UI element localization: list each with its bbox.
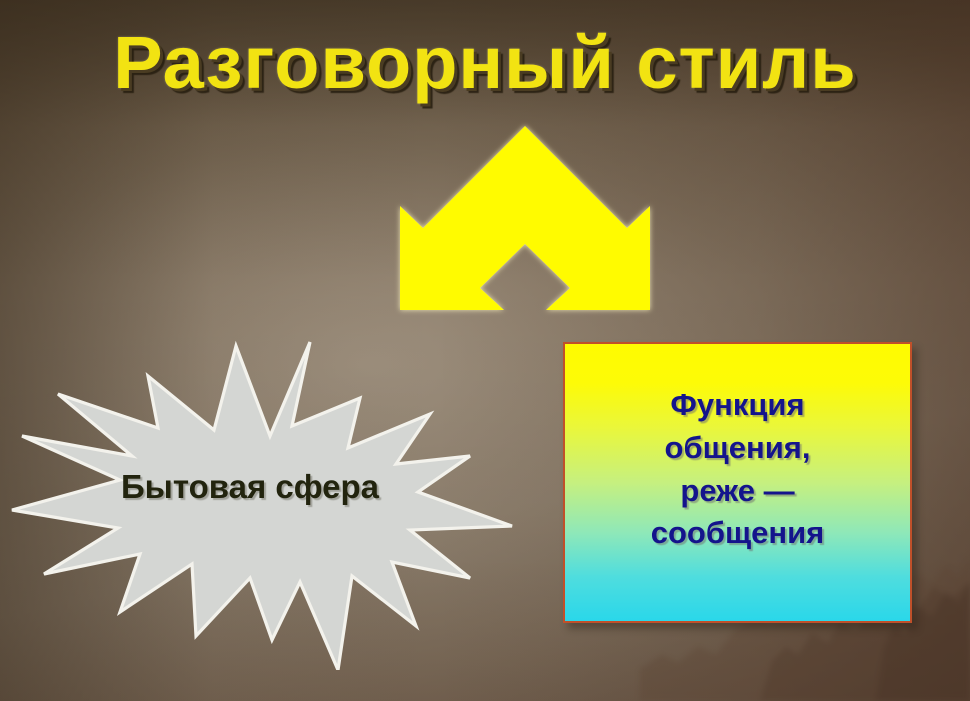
box-line-4: сообщения [563, 512, 912, 555]
box-line-1: Функция [563, 384, 912, 427]
double-down-arrow-icon [330, 118, 720, 328]
box-line-3: реже — [563, 470, 912, 513]
box-line-2: общения, [563, 427, 912, 470]
gradient-box-text: Функция общения, реже — сообщения [563, 384, 912, 555]
page-title: Разговорный стиль [0, 26, 970, 100]
presentation-slide: Разговорный стиль Бытовая сфера Функция … [0, 0, 970, 701]
star-callout-label: Бытовая сфера [30, 468, 470, 506]
